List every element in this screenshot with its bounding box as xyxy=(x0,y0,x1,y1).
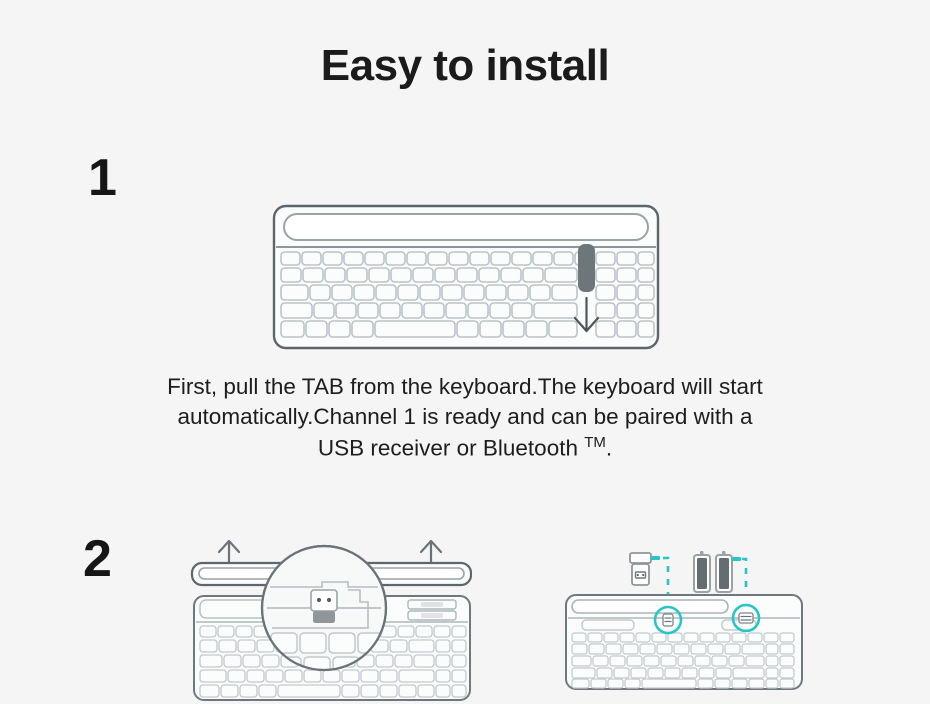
caption-line-3-prefix: USB receiver or Bluetooth xyxy=(318,435,584,460)
key-row-5 xyxy=(200,685,466,697)
tab-pull-strip xyxy=(578,244,595,292)
key-row-3 xyxy=(572,656,794,666)
caption-line-1: First, pull the TAB from the keyboard.Th… xyxy=(75,372,855,402)
key-row-4 xyxy=(281,303,654,318)
figure-keyboard-with-tab-pull xyxy=(262,194,670,366)
key-row-2 xyxy=(281,268,654,282)
key-row-5 xyxy=(572,679,794,688)
battery-icon-2 xyxy=(716,551,732,592)
step-number-1: 1 xyxy=(88,152,117,204)
keyboard-illustration-step2-left xyxy=(172,530,472,704)
usb-dongle-icon-callout xyxy=(630,553,660,585)
figure-keyboard-lift-cradle-usb-receiver xyxy=(172,530,472,704)
caption-line-3-suffix: . xyxy=(606,435,612,460)
step-number-2: 2 xyxy=(83,533,112,585)
battery-icon-1 xyxy=(694,551,710,592)
page-root: Easy to install 1 xyxy=(0,0,930,704)
caption-line-2: automatically.Channel 1 is ready and can… xyxy=(75,402,855,432)
key-row-4 xyxy=(572,668,794,678)
trademark-symbol: TM xyxy=(584,434,606,451)
usb-dongle-icon xyxy=(311,590,337,623)
key-row-3 xyxy=(281,285,654,300)
key-row-1 xyxy=(281,252,654,265)
step1-caption: First, pull the TAB from the keyboard.Th… xyxy=(75,372,855,464)
figure-keyboard-compartments-callout xyxy=(552,532,816,704)
page-title: Easy to install xyxy=(0,42,930,90)
keyboard-illustration-step1 xyxy=(262,194,670,366)
keyboard-illustration-step2-right xyxy=(552,532,816,704)
key-row-4 xyxy=(200,670,466,682)
battery-connector-nub xyxy=(732,557,741,561)
key-row-5 xyxy=(281,321,654,337)
caption-line-3: USB receiver or Bluetooth TM. xyxy=(75,433,855,464)
